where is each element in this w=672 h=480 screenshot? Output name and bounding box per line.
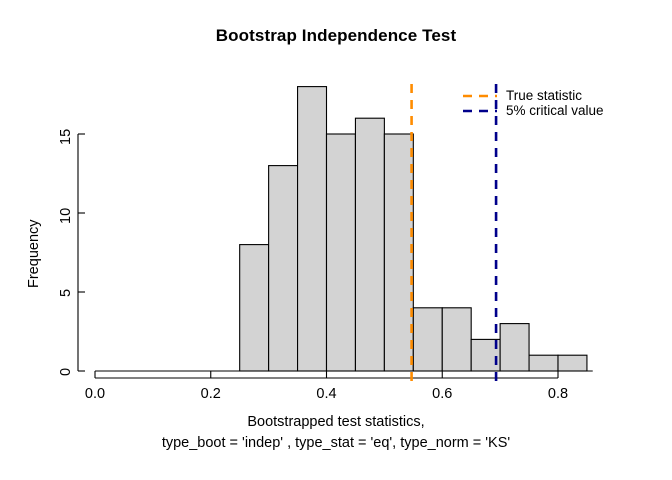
plot-area: Bootstrap Independence Test 0.00.20.40.6… xyxy=(0,0,672,480)
page-title: Bootstrap Independence Test xyxy=(0,26,672,46)
y-tick-label: 5 xyxy=(58,289,74,297)
x-tick-label: 0.2 xyxy=(186,386,236,402)
y-tick-label: 10 xyxy=(58,208,74,224)
histogram-bar xyxy=(240,245,269,371)
x-axis-label-line1: Bootstrapped test statistics, xyxy=(0,414,672,430)
legend-label: 5% critical value xyxy=(506,103,604,118)
x-tick-label: 0.4 xyxy=(302,386,352,402)
histogram-bar xyxy=(442,308,471,371)
x-axis-label-line2: type_boot = 'indep' , type_stat = 'eq', … xyxy=(0,435,672,451)
x-tick-label: 0.0 xyxy=(70,386,120,402)
histogram-bar xyxy=(269,166,298,371)
histogram-svg xyxy=(0,0,672,480)
y-axis-label: Frequency xyxy=(26,219,42,288)
histogram-bar xyxy=(413,308,442,371)
x-tick-label: 0.6 xyxy=(417,386,467,402)
legend-label: True statistic xyxy=(506,88,582,103)
histogram-bar xyxy=(327,134,356,371)
histogram-bars xyxy=(240,87,587,371)
histogram-bar xyxy=(500,324,529,371)
legend-markers xyxy=(463,96,497,111)
histogram-bar xyxy=(529,355,558,371)
y-tick-label: 15 xyxy=(58,129,74,145)
histogram-bar xyxy=(384,134,413,371)
x-tick-label: 0.8 xyxy=(533,386,583,402)
histogram-bar xyxy=(558,355,587,371)
y-tick-label: 0 xyxy=(58,368,74,376)
histogram-bar xyxy=(355,118,384,371)
histogram-bar xyxy=(298,87,327,371)
